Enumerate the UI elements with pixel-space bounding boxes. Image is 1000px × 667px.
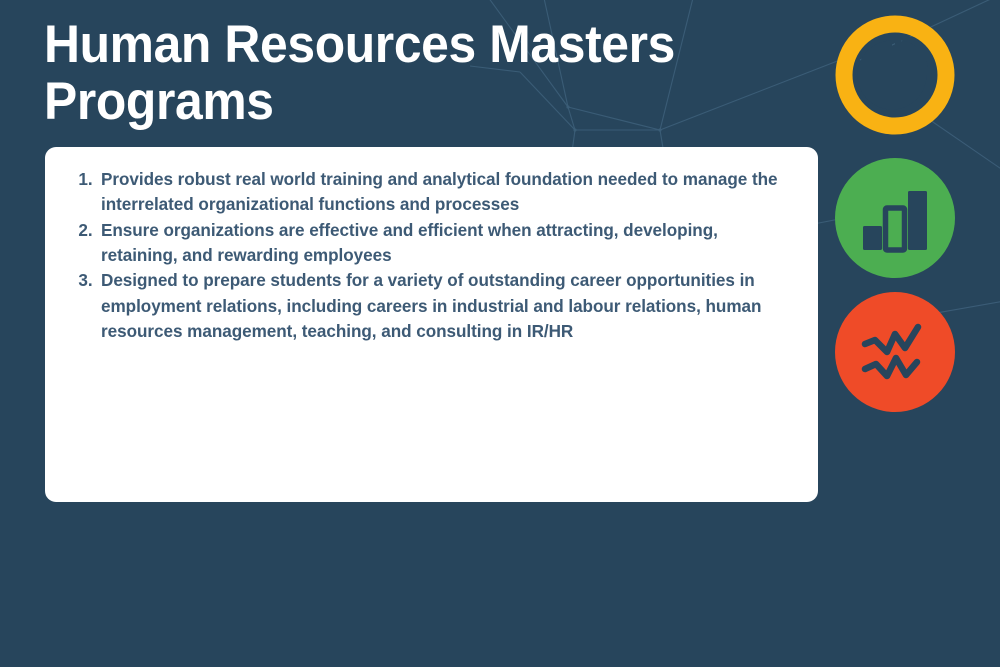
pie-chart-icon <box>835 15 955 135</box>
list-item: Ensure organizations are effective and e… <box>101 218 778 269</box>
numbered-list: Provides robust real world training and … <box>63 167 788 344</box>
list-item: Designed to prepare students for a varie… <box>101 268 778 344</box>
slide-title: Human Resources Masters Programs <box>44 16 702 130</box>
content-card: Provides robust real world training and … <box>45 147 818 502</box>
line-chart-icon <box>835 292 955 412</box>
slide-canvas: Human Resources Masters Programs Provide… <box>0 0 1000 667</box>
bar-chart-icon <box>835 158 955 278</box>
list-item: Provides robust real world training and … <box>101 167 778 218</box>
